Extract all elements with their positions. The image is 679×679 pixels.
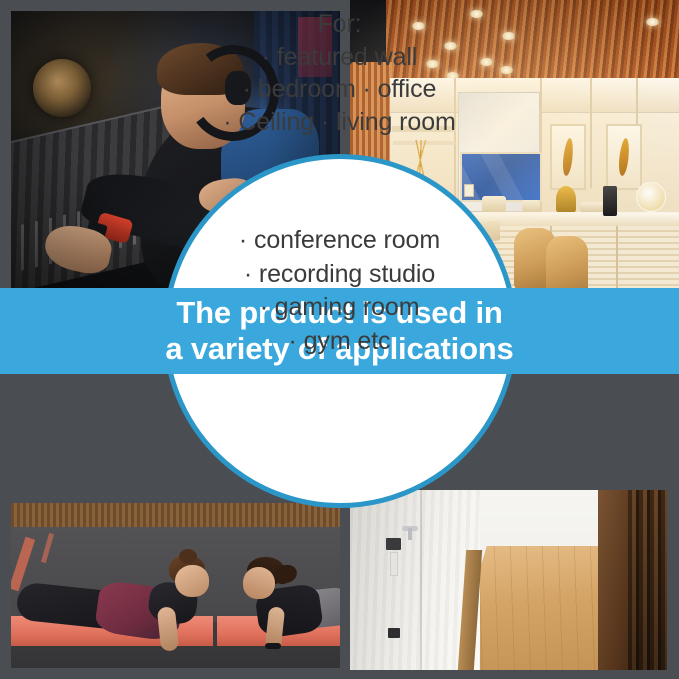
application-item-gym-etc: · gym etc (0, 325, 679, 359)
hallway-wall-outlet (388, 628, 400, 638)
application-item-featured-wall: · featured wall (0, 41, 679, 74)
applications-top-list: For: · featured wall · bedroom · office … (0, 8, 679, 138)
hallway-slat-shading (628, 490, 667, 670)
photo-gym-workout (11, 503, 340, 668)
for-heading: For: (0, 8, 679, 41)
hallway-dark-wood-post (598, 490, 632, 670)
hallway-light-switch (386, 538, 401, 550)
gym-person-two-wristband (265, 643, 281, 649)
application-item-bedroom-office: · bedroom · office (0, 73, 679, 106)
poster: For: · featured wall · bedroom · office … (0, 0, 679, 679)
application-item-gaming-room: · gaming room (0, 291, 679, 325)
gym-person-one-head (175, 565, 209, 597)
gym-person-one-hair-bun (179, 549, 197, 564)
hallway-door-seam (420, 490, 422, 670)
applications-bottom-list: · conference room · recording studio · g… (0, 224, 679, 358)
hallway-wall-strip (390, 552, 398, 576)
application-item-ceiling-living-room: · Ceiling · living room (0, 106, 679, 139)
photo-hallway-interior (350, 490, 667, 670)
gym-person-two-head (243, 567, 275, 599)
hallway-door-handle-stem (408, 528, 412, 540)
gym-slat-wall (11, 503, 340, 527)
application-item-conference-room: · conference room (0, 224, 679, 258)
application-item-recording-studio: · recording studio (0, 258, 679, 292)
